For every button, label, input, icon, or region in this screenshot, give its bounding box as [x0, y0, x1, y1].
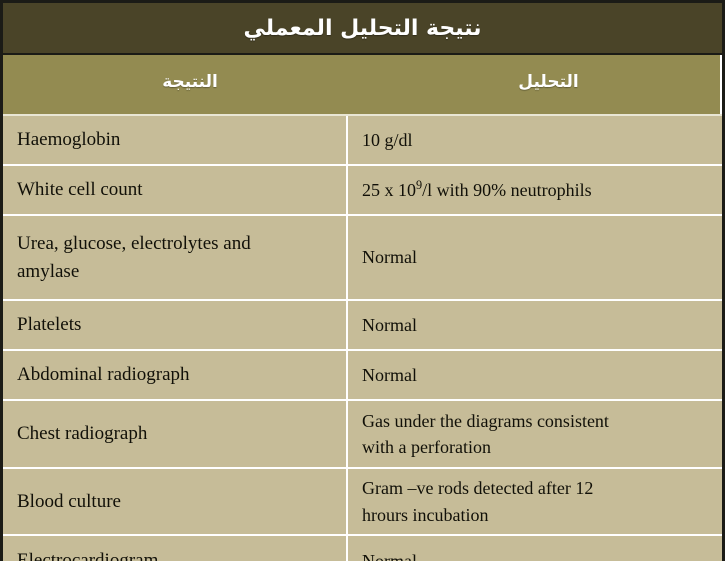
test-name-text: Haemoglobin	[17, 126, 332, 154]
cell-result: 25 x 109/l with 90% neutrophils	[348, 166, 722, 214]
cell-test-name: Electrocardiogram	[3, 536, 348, 561]
result-text: 25 x 109/l with 90% neutrophils	[362, 177, 708, 203]
result-text: 10 g/dl	[362, 127, 708, 153]
test-name-text: Abdominal radiograph	[17, 361, 332, 389]
cell-result: Normal	[348, 301, 722, 349]
result-text: Normal	[362, 362, 708, 388]
test-name-text: Electrocardiogram	[17, 547, 332, 561]
cell-result: Normal	[348, 536, 722, 561]
column-header-result-label: النتيجة	[162, 72, 218, 92]
test-name-text: Chest radiograph	[17, 420, 332, 448]
cell-result: Normal	[348, 216, 722, 299]
test-name-text-line2: amylase	[17, 258, 332, 286]
table-row: Blood culture Gram –ve rods detected aft…	[3, 469, 722, 536]
table-row: Haemoglobin 10 g/dl	[3, 116, 722, 166]
cell-test-name: Abdominal radiograph	[3, 351, 348, 399]
test-name-text: Blood culture	[17, 488, 332, 516]
column-header-test-label: التحليل	[518, 72, 578, 92]
result-text: Normal	[362, 244, 708, 270]
page-title: نتيجة التحليل المعملي	[244, 16, 482, 41]
table-row: Electrocardiogram Normal	[3, 536, 722, 561]
result-text-line2: hrours incubation	[362, 502, 708, 528]
result-text-line2: with a perforation	[362, 434, 708, 460]
column-header-test: التحليل	[377, 55, 722, 114]
cell-result: Gas under the diagrams consistent with a…	[348, 401, 722, 467]
result-text: Normal	[362, 548, 708, 561]
lab-results-table: نتيجة التحليل المعملي النتيجة التحليل Ha…	[0, 0, 725, 561]
result-text-line1: Gram –ve rods detected after 12	[362, 475, 708, 501]
result-text: Normal	[362, 312, 708, 338]
result-text-suffix: /l with 90% neutrophils	[422, 180, 592, 200]
test-name-text: Platelets	[17, 311, 332, 339]
table-header-row: النتيجة التحليل	[3, 55, 722, 116]
cell-result: Gram –ve rods detected after 12 hrours i…	[348, 469, 722, 534]
test-name-text-line1: Urea, glucose, electrolytes and	[17, 230, 332, 258]
table-row: Chest radiograph Gas under the diagrams …	[3, 401, 722, 469]
cell-test-name: Blood culture	[3, 469, 348, 534]
result-text-prefix: 25 x 10	[362, 180, 416, 200]
cell-test-name: Platelets	[3, 301, 348, 349]
cell-test-name: Urea, glucose, electrolytes and amylase	[3, 216, 348, 299]
cell-test-name: Haemoglobin	[3, 116, 348, 164]
cell-result: Normal	[348, 351, 722, 399]
table-row: Urea, glucose, electrolytes and amylase …	[3, 216, 722, 301]
table-row: Abdominal radiograph Normal	[3, 351, 722, 401]
table-row: White cell count 25 x 109/l with 90% neu…	[3, 166, 722, 216]
cell-test-name: White cell count	[3, 166, 348, 214]
table-title-bar: نتيجة التحليل المعملي	[3, 0, 722, 55]
cell-test-name: Chest radiograph	[3, 401, 348, 467]
table-row: Platelets Normal	[3, 301, 722, 351]
table-body: Haemoglobin 10 g/dl White cell count 25 …	[3, 116, 722, 561]
test-name-text: White cell count	[17, 176, 332, 204]
cell-result: 10 g/dl	[348, 116, 722, 164]
result-text-line1: Gas under the diagrams consistent	[362, 408, 708, 434]
column-header-result: النتيجة	[3, 55, 377, 114]
